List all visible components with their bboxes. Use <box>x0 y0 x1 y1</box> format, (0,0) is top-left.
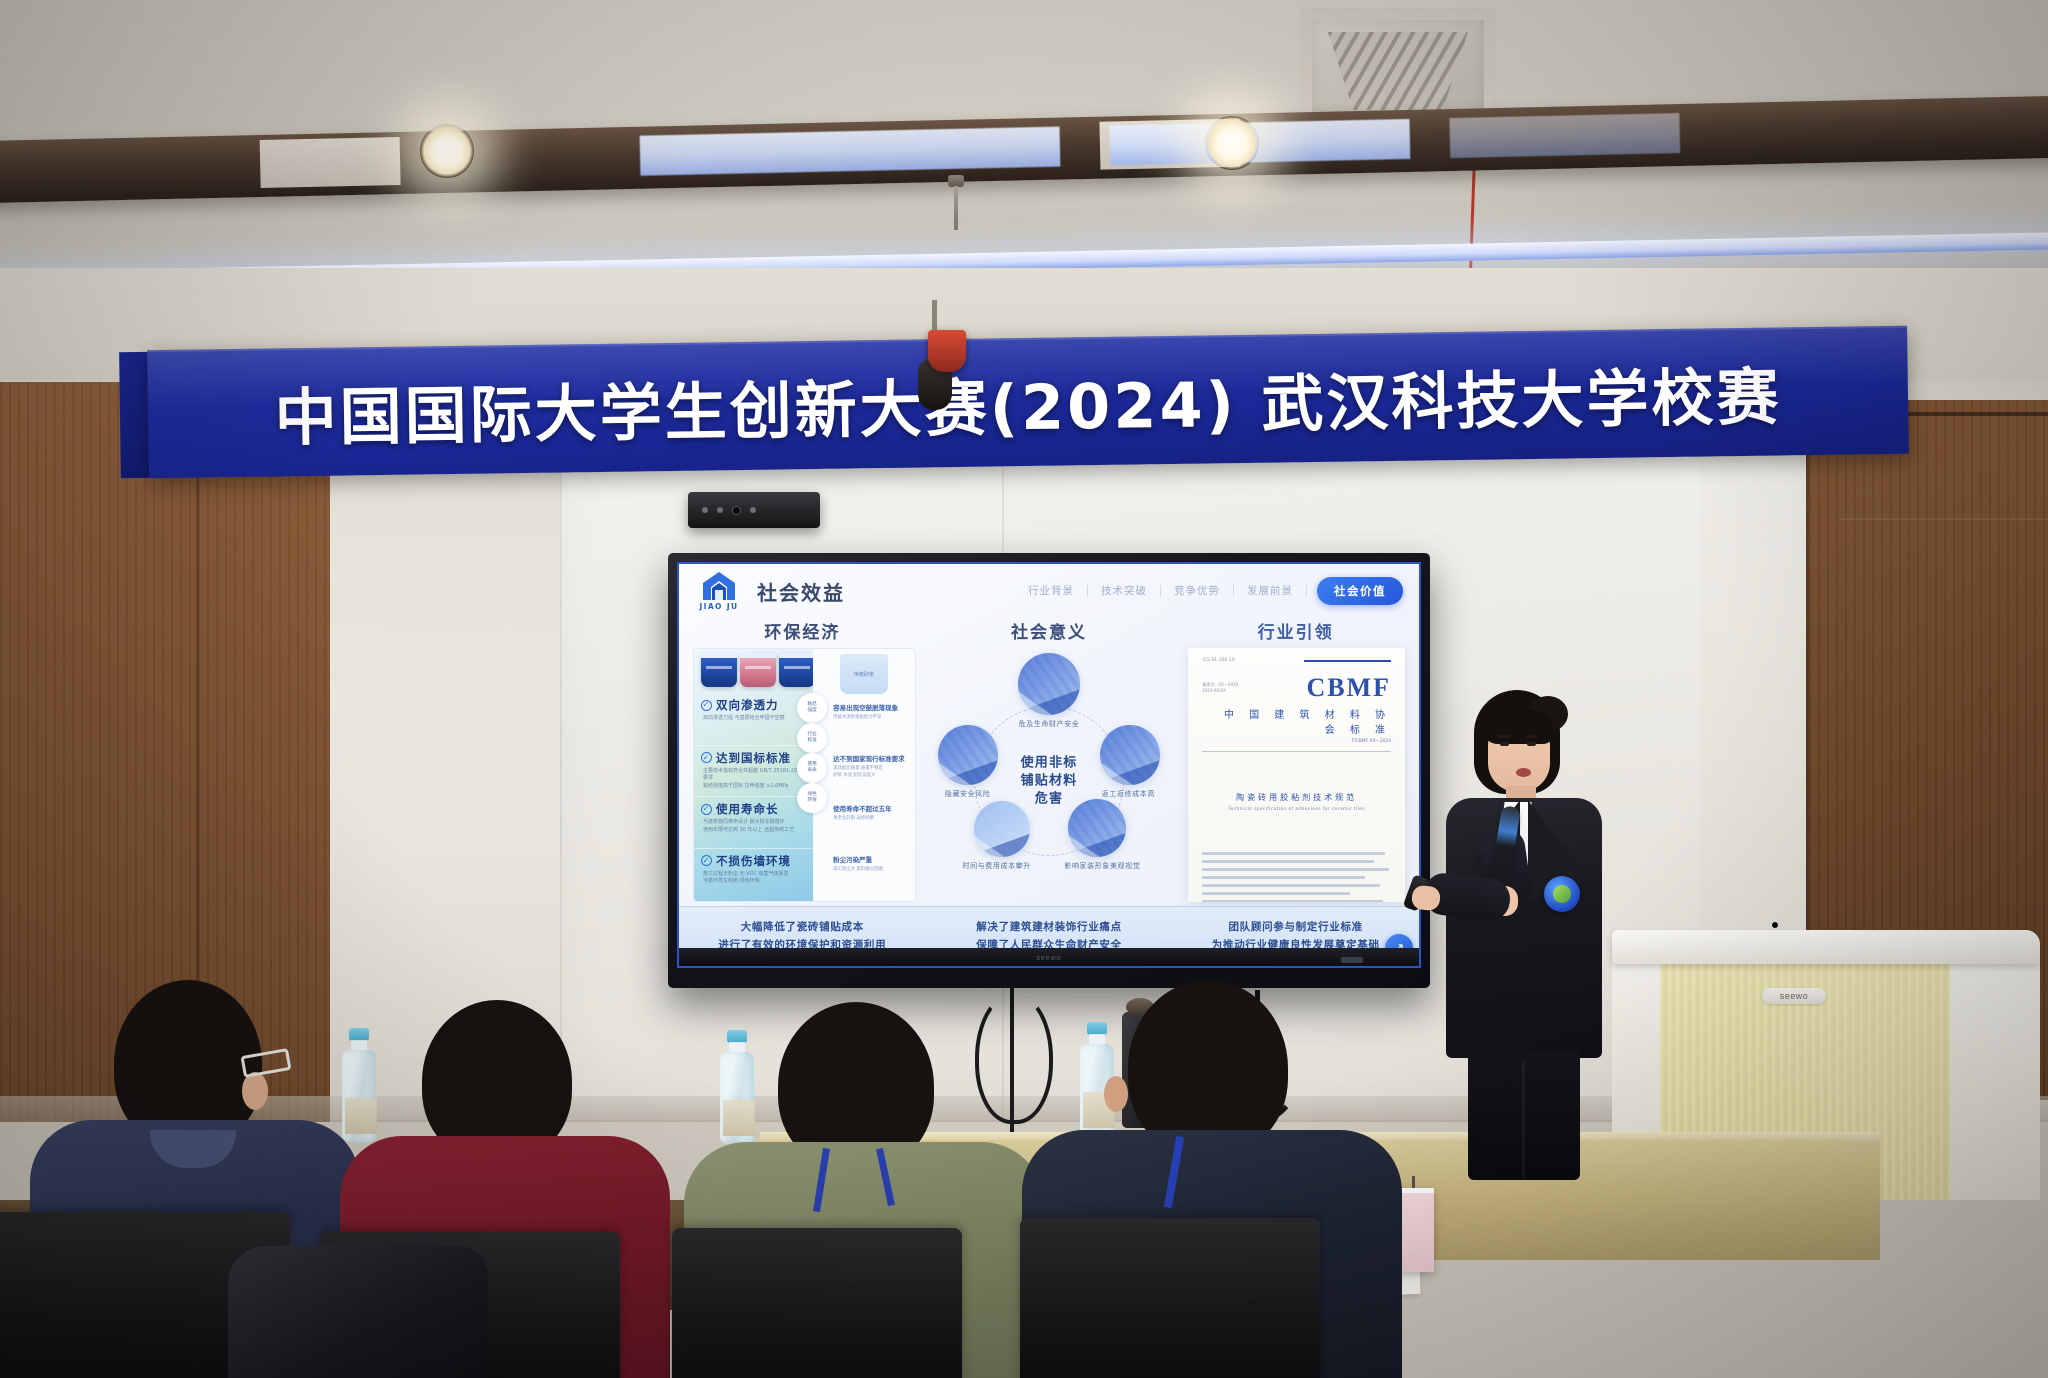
eco-drawback-sub: 施工扬尘大 废料难以回收 <box>833 866 911 873</box>
eco-drawback-sub: 现场配比随意 质量不稳定砂浆 水泥 配比误差大 <box>833 765 911 779</box>
column-heading-industry: 行业引领 <box>1178 618 1413 643</box>
sprinkler-head-icon <box>948 175 964 233</box>
eco-drawback-title: 容易出现空鼓脱落现象 <box>833 702 911 712</box>
eco-feature-title: 不损伤墙环境 <box>716 853 791 869</box>
eco-feature-sub: 主要技术指标符合并超越 GB/T 25181-2019 要求粘结强度高于国标 拉… <box>701 768 806 791</box>
ceiling-red-fixture <box>928 330 966 372</box>
downlight-icon <box>1205 116 1259 170</box>
jiaoju-logo-icon <box>702 571 736 601</box>
soffit-panel <box>260 137 401 188</box>
doc-rule <box>1304 660 1391 662</box>
downlight-icon <box>420 124 474 178</box>
eco-drawback-title: 使用寿命不超过五年 <box>833 803 911 813</box>
slide-nav[interactable]: 行业背景 技术突破 竞争优势 发展前景 社会价值 <box>1015 577 1403 605</box>
eco-feature-item: ✓ 不损伤墙环境 施工过程无粉尘 无 VOC 有害气体挥发可循环再生利用 绿色环… <box>694 848 813 900</box>
presenter-fringe <box>1484 710 1554 744</box>
column-heading-eco: 环保经济 <box>685 618 920 643</box>
eco-feature-title-row: ✓ 不损伤墙环境 <box>701 853 806 869</box>
audience-ear <box>1104 1076 1128 1112</box>
brand-logo-text: JIAO JU <box>699 602 738 611</box>
eco-feature-title: 使用寿命长 <box>716 801 779 817</box>
check-icon: ✓ <box>701 700 712 711</box>
doc-divider <box>1202 751 1391 752</box>
slide-column-social-meaning: 社会意义 使用非标铺贴材料危害 危及生命财产安全 隐藏安全风险 返工返修成本高 <box>926 618 1173 906</box>
social-harm-diagram: 使用非标铺贴材料危害 危及生命财产安全 隐藏安全风险 返工返修成本高 时间与费用… <box>932 649 1167 937</box>
eco-feature-list: ✓ 双向渗透力 双向渗透力强 与基层结合牢固不空鼓 ✓ 达到国标标准 <box>694 693 813 899</box>
event-banner: 中国国际大学生创新大赛(2024) 武汉科技大学校赛 <box>147 326 1909 479</box>
harm-label-right: 返工返修成本高 <box>1090 789 1166 799</box>
bucket-icon <box>779 653 815 687</box>
check-icon: ✓ <box>701 804 712 815</box>
display-brand-logo: seewo <box>1036 955 1061 962</box>
slide-header: JIAO JU 社会效益 行业背景 技术突破 竞争优势 发展前景 社会价值 <box>679 564 1419 618</box>
soffit-light-strip <box>640 127 1061 176</box>
presentation-slide: JIAO JU 社会效益 行业背景 技术突破 竞争优势 发展前景 社会价值 <box>679 564 1419 966</box>
soffit-light-strip <box>1449 113 1680 158</box>
presenter-jacket-button <box>1772 922 1778 928</box>
soundbar-device <box>688 492 820 528</box>
eco-feature-title: 双向渗透力 <box>716 697 779 713</box>
display-screen[interactable]: JIAO JU 社会效益 行业背景 技术突破 竞争优势 发展前景 社会价值 <box>677 562 1421 968</box>
eco-feature-title-row: ✓ 使用寿命长 <box>701 801 806 817</box>
doc-standard-number: T/CBMF XX—2024 <box>1202 739 1391 744</box>
audience-ear <box>242 1072 268 1110</box>
eco-badge-column: 粘结强度 行业标准 使用寿命 绿色环保 <box>797 693 829 897</box>
nav-item-social-value-active[interactable]: 社会价值 <box>1317 577 1403 605</box>
interactive-display[interactable]: JIAO JU 社会效益 行业背景 技术突破 竞争优势 发展前景 社会价值 <box>668 553 1430 988</box>
eco-feature-title-row: ✓ 达到国标标准 <box>701 750 806 766</box>
nav-item-development-outlook[interactable]: 发展前景 <box>1234 585 1307 597</box>
eco-right-panel: 传统砂浆 粘结强度 行业标准 使用寿命 绿色环保 容易出现空鼓脱落现象 <box>813 649 915 901</box>
presenter-eye <box>1527 742 1536 746</box>
eco-drawback-title: 达不到国家现行标准要求 <box>833 753 911 763</box>
lectern-side-panel <box>1948 952 2040 1200</box>
doc-top-line: ICS 91.100.10 <box>1202 658 1391 663</box>
harm-photo-bottom-right <box>1068 799 1126 857</box>
product-buckets-image <box>701 653 815 687</box>
presenter-eye <box>1500 742 1509 746</box>
harm-label-bottom-right: 影响家装形象美观视觉 <box>1038 861 1166 871</box>
check-icon: ✓ <box>701 855 712 866</box>
harm-photo-left <box>938 725 998 785</box>
presenter-contestant-badge <box>1544 876 1580 912</box>
seewo-logo: seewo <box>1762 988 1826 1004</box>
harm-photo-top <box>1018 653 1080 715</box>
display-bezel-bottom: seewo <box>679 948 1419 966</box>
eco-badge: 行业标准 <box>797 723 827 753</box>
doc-body-text <box>1202 852 1391 902</box>
doc-code-left: ICS 91.100.10 <box>1202 658 1234 663</box>
bucket-icon <box>740 653 776 687</box>
backpack <box>228 1246 488 1378</box>
presentation-room-photo: 中国国际大学生创新大赛(2024) 武汉科技大学校赛 <box>0 0 2048 1378</box>
eco-drawback-title: 粉尘污染严重 <box>833 854 911 864</box>
eco-drawback-item: 达不到国家现行标准要求 现场配比随意 质量不稳定砂浆 水泥 配比误差大 <box>833 748 911 799</box>
display-ir-sensor <box>1341 957 1363 963</box>
slide-column-industry-leadership: 行业引领 ICS 91.100.10 备案号：XX—XXXX2024-XX-XX… <box>1172 618 1419 906</box>
eco-left-gradient-panel: ✓ 双向渗透力 双向渗透力强 与基层结合牢固不空鼓 ✓ 达到国标标准 <box>694 649 813 901</box>
standard-document-image: ICS 91.100.10 备案号：XX—XXXX2024-XX-XX CBMF… <box>1188 648 1405 902</box>
eco-badge: 使用寿命 <box>797 753 827 783</box>
eco-feature-item: ✓ 达到国标标准 主要技术指标符合并超越 GB/T 25181-2019 要求粘… <box>694 745 813 797</box>
eco-drawback-item: 容易出现空鼓脱落现象 传统水泥砂浆粘结力不足 <box>833 697 911 748</box>
lectern-top-surface <box>1612 930 2040 964</box>
eco-badge: 粘结强度 <box>797 693 827 723</box>
chair-back <box>672 1228 962 1378</box>
harm-label-left: 隐藏安全风险 <box>932 789 1004 799</box>
presenter-trousers <box>1468 1050 1580 1180</box>
presenter-eyebrow <box>1526 735 1538 738</box>
eco-drawback-sub: 传统水泥砂浆粘结力不足 <box>833 714 911 721</box>
brand-logo: JIAO JU <box>691 571 747 611</box>
nav-item-competitive-advantage[interactable]: 竞争优势 <box>1161 585 1234 597</box>
chair-back <box>1020 1218 1320 1378</box>
presenter-mouth <box>1516 768 1531 777</box>
eco-badge: 绿色环保 <box>797 783 827 813</box>
ceiling-soffit <box>0 94 2048 203</box>
eco-comparison-card: ✓ 双向渗透力 双向渗透力强 与基层结合牢固不空鼓 ✓ 达到国标标准 <box>693 648 916 902</box>
eco-feature-item: ✓ 双向渗透力 双向渗透力强 与基层结合牢固不空鼓 <box>694 693 813 745</box>
nav-item-tech-breakthrough[interactable]: 技术突破 <box>1088 585 1161 597</box>
column-heading-social: 社会意义 <box>932 618 1167 643</box>
nav-item-industry-background[interactable]: 行业背景 <box>1015 585 1088 597</box>
doc-title-english: Technical specification of adhesives for… <box>1202 807 1391 812</box>
eco-feature-sub: 与建筑物同寿命设计 耐水耐冻融循环使用年限可达到 30 年以上 远超传统工艺 <box>701 819 806 834</box>
eco-feature-title-row: ✓ 双向渗透力 <box>701 697 806 713</box>
eco-drawback-list: 容易出现空鼓脱落现象 传统水泥砂浆粘结力不足 达不到国家现行标准要求 现场配比随… <box>833 697 911 899</box>
eco-feature-sub: 施工过程无粉尘 无 VOC 有害气体挥发可循环再生利用 绿色环保 <box>701 871 806 886</box>
eco-drawback-item: 使用寿命不超过五年 易老化开裂 返修频繁 <box>833 798 911 849</box>
presenter-person <box>1432 690 1610 1170</box>
slide-column-eco-economy: 环保经济 <box>679 618 926 906</box>
check-icon: ✓ <box>701 752 712 763</box>
traditional-mortar-chip: 传统砂浆 <box>840 654 888 694</box>
harm-photo-bottom-left <box>974 801 1030 857</box>
eco-feature-sub: 双向渗透力强 与基层结合牢固不空鼓 <box>701 715 806 723</box>
soundbar-dot <box>750 507 756 513</box>
doc-title: 陶瓷砖用胶粘剂技术规范 <box>1202 792 1391 803</box>
soffit-light-strip <box>1110 119 1411 166</box>
camera-lens-icon <box>732 506 741 515</box>
event-banner-text: 中国国际大学生创新大赛(2024) 武汉科技大学校赛 <box>274 346 1782 457</box>
soundbar-dot <box>717 507 723 513</box>
doc-meta-left: 备案号：XX—XXXX2024-XX-XX <box>1202 682 1238 695</box>
eco-drawback-sub: 易老化开裂 返修频繁 <box>833 815 911 822</box>
bucket-icon <box>701 653 737 687</box>
harm-label-top: 危及生命财产安全 <box>1019 719 1080 729</box>
eco-drawback-item: 粉尘污染严重 施工扬尘大 废料难以回收 <box>833 849 911 900</box>
harm-photo-right <box>1100 725 1160 785</box>
eco-feature-title: 达到国标标准 <box>716 750 791 766</box>
slide-title: 社会效益 <box>757 577 845 606</box>
slide-columns: 环保经济 <box>679 618 1419 906</box>
doc-organization: 中 国 建 筑 材 料 协 会 标 准 <box>1202 706 1391 736</box>
presenter-eyebrow <box>1498 735 1510 738</box>
soundbar-dot <box>702 507 708 513</box>
eco-feature-item: ✓ 使用寿命长 与建筑物同寿命设计 耐水耐冻融循环使用年限可达到 30 年以上 … <box>694 796 813 848</box>
